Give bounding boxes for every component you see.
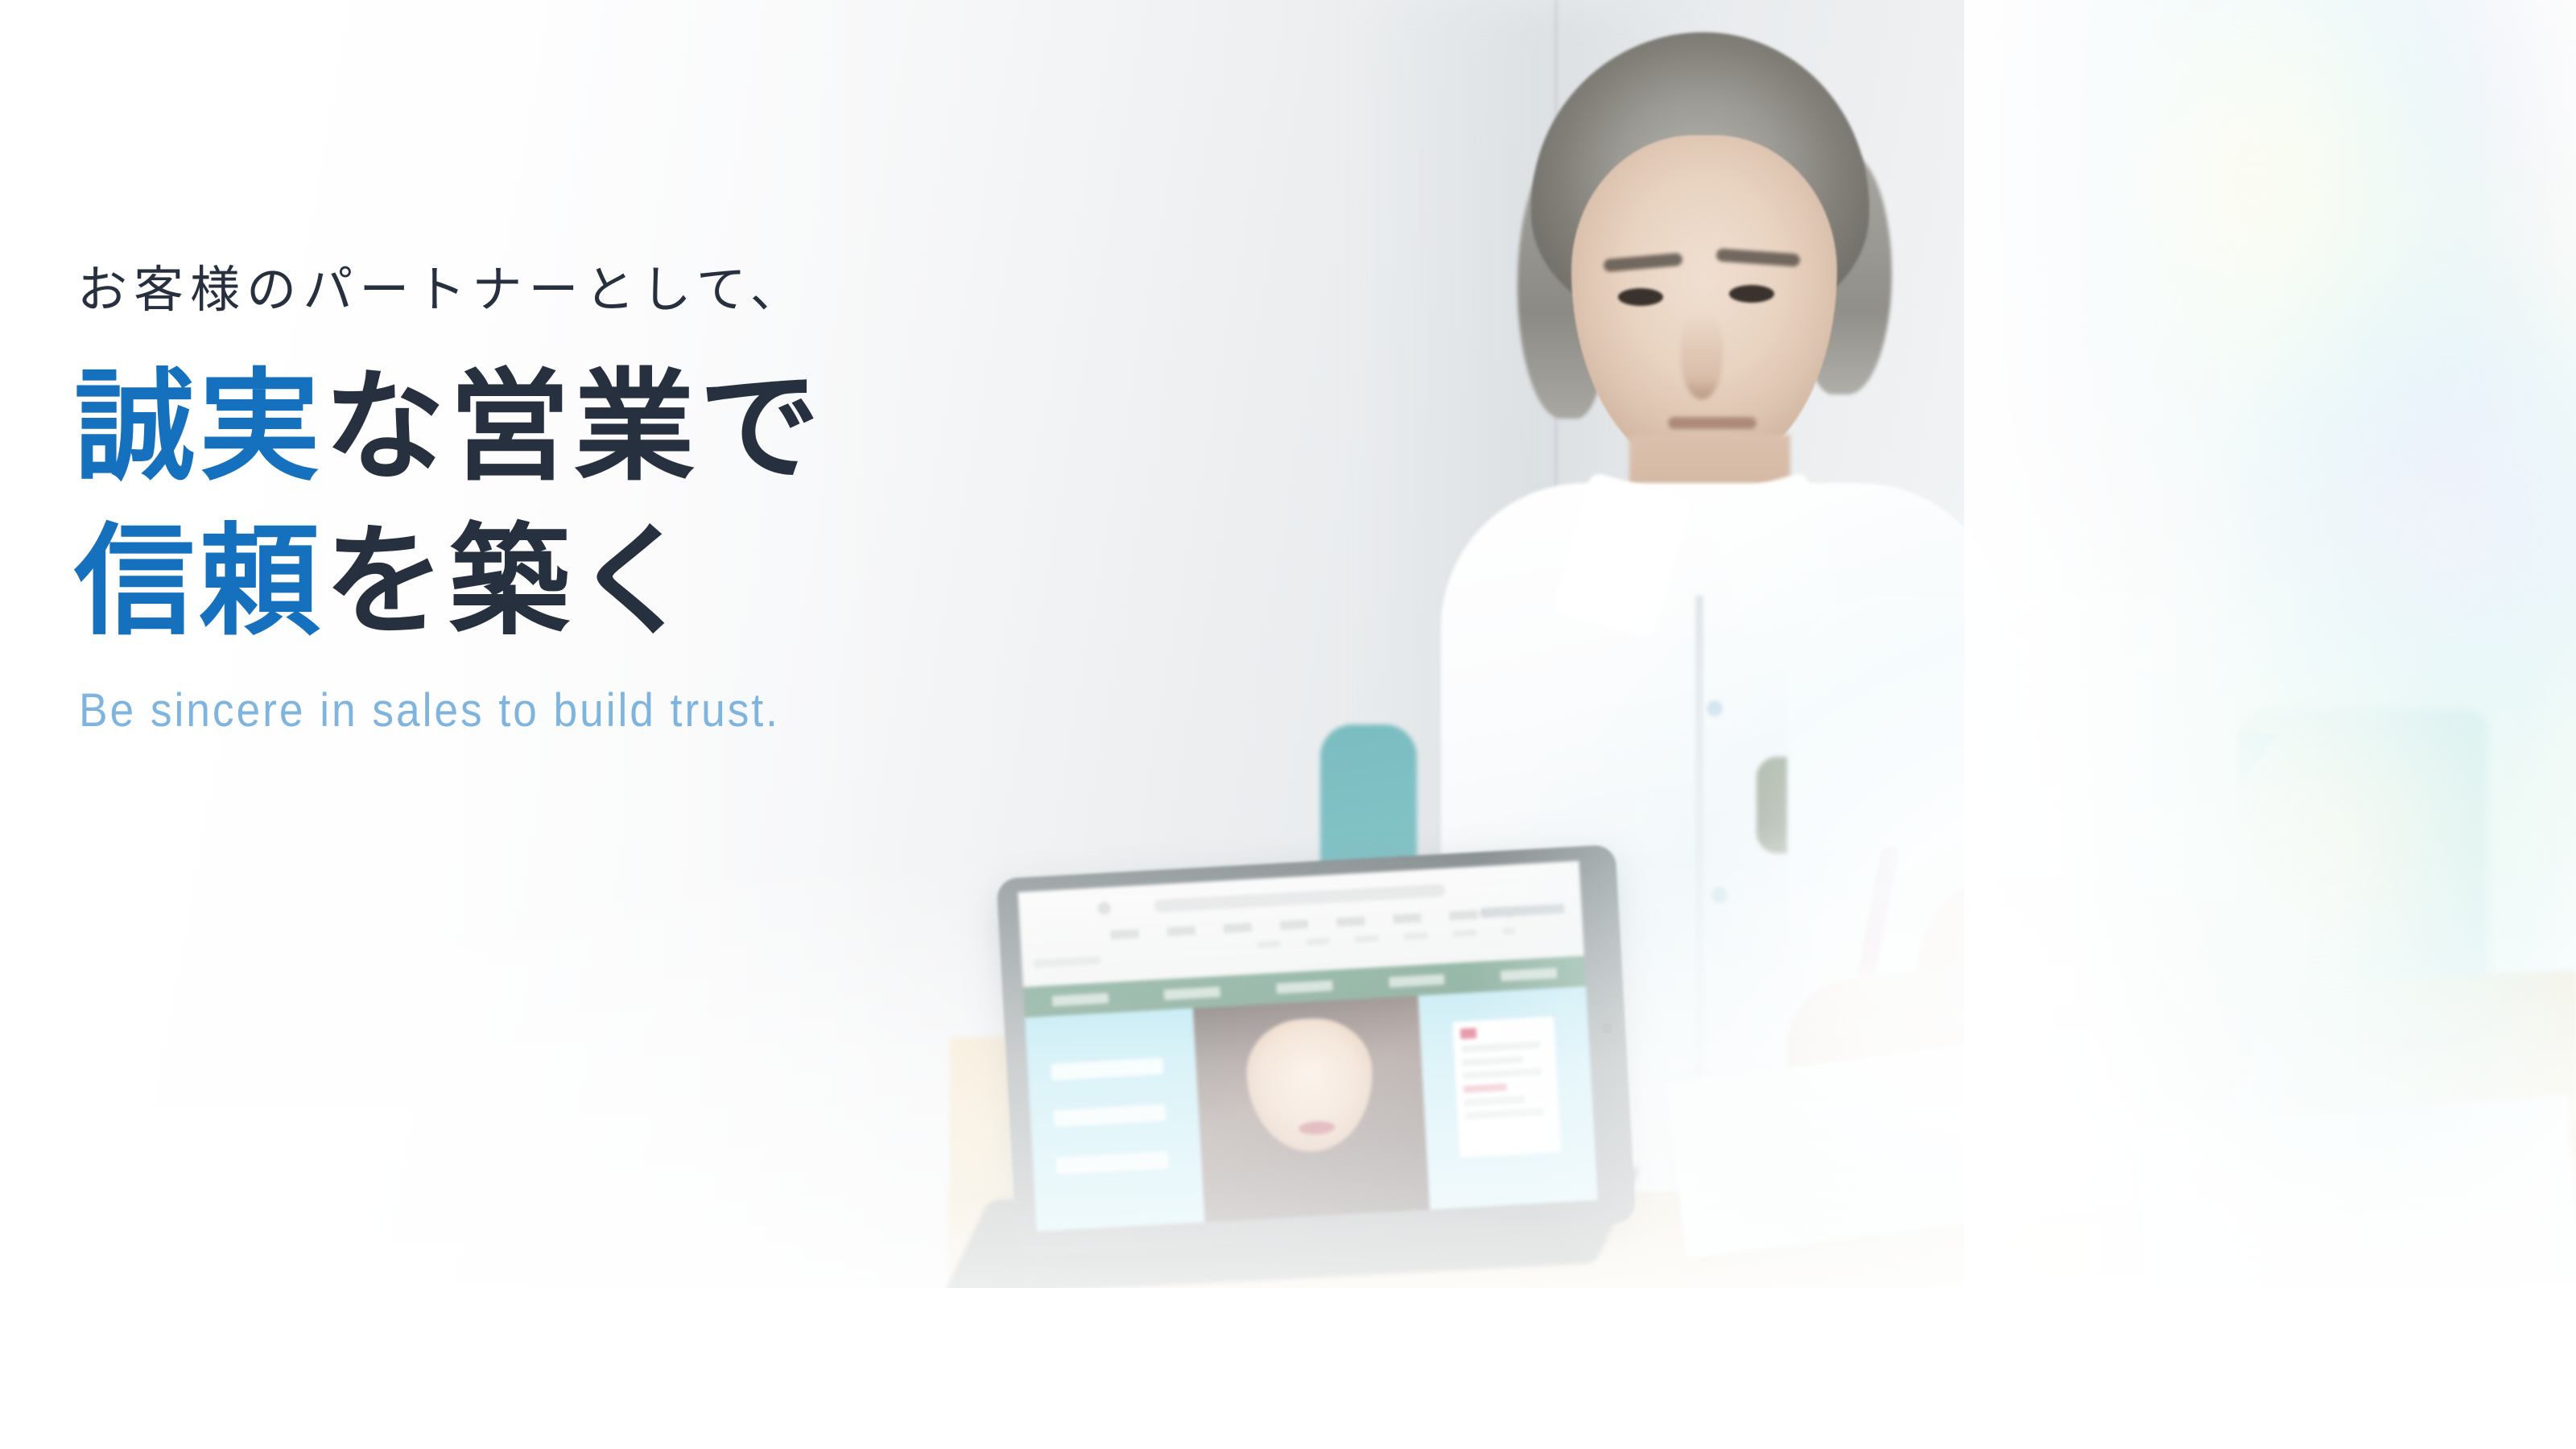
headline-highlight-2: 信頼 <box>74 516 324 650</box>
eye-left <box>1618 288 1663 306</box>
page-bottom-white-area <box>0 1288 2576 1449</box>
site-left-line <box>1054 1104 1166 1128</box>
site-model-photo <box>1193 996 1430 1222</box>
hero-banner: お客様のパートナーとして、 誠実な営業で 信頼を築く Be sincere in… <box>0 0 2576 1288</box>
site-card-line <box>1465 1108 1544 1119</box>
site-left-line <box>1051 1057 1163 1080</box>
site-info-card[interactable] <box>1453 1016 1562 1157</box>
site-left-panel <box>1025 1009 1205 1232</box>
site-nav-item[interactable] <box>1276 980 1332 993</box>
browser-subnav-row[interactable] <box>1257 927 1515 948</box>
mouth <box>1668 417 1757 429</box>
site-nav-item[interactable] <box>1052 993 1108 1006</box>
hero-subcopy: Be sincere in sales to build trust. <box>79 687 1230 734</box>
hero-headline-line-1: 誠実な営業で <box>74 351 1330 506</box>
shirt-placket <box>1695 596 1703 1143</box>
headline-highlight-1: 誠実 <box>74 361 324 495</box>
eye-right <box>1729 285 1774 303</box>
browser-account-button[interactable] <box>1480 903 1565 918</box>
headline-rest-1: な営業で <box>324 361 824 495</box>
browser-dot-icon <box>1097 902 1111 915</box>
tablet-device[interactable] <box>996 844 1636 1257</box>
site-nav-item[interactable] <box>1389 974 1445 988</box>
browser-bookmark[interactable] <box>1033 956 1100 968</box>
tablet-screen[interactable] <box>1018 861 1597 1231</box>
paper-document-c <box>2136 1096 2576 1288</box>
site-card-line <box>1463 1068 1542 1080</box>
hero-copy-block: お客様のパートナーとして、 誠実な営業で 信頼を築く Be sincere in… <box>74 266 1330 734</box>
nose <box>1681 314 1723 399</box>
hero-kicker: お客様のパートナーとして、 <box>77 266 1330 316</box>
hero-page: お客様のパートナーとして、 誠実な営業で 信頼を築く Be sincere in… <box>0 0 2576 1449</box>
site-card-logo <box>1460 1028 1476 1040</box>
site-left-line <box>1056 1151 1168 1174</box>
site-card-line <box>1464 1096 1525 1106</box>
site-nav-item[interactable] <box>1164 986 1220 1000</box>
shirt-button-lower <box>1711 887 1728 903</box>
site-info-panel <box>1418 986 1598 1209</box>
site-card-line <box>1461 1041 1540 1052</box>
site-card-line <box>1462 1055 1523 1066</box>
shirt-button-upper <box>1707 700 1723 716</box>
site-nav-item[interactable] <box>1501 968 1557 981</box>
hero-headline-line-2: 信頼を築く <box>74 506 1330 660</box>
headline-rest-2: を築く <box>324 516 700 650</box>
browser-url-bar[interactable] <box>1154 884 1446 914</box>
site-main-body <box>1025 986 1598 1231</box>
site-card-line-accent <box>1463 1084 1507 1093</box>
